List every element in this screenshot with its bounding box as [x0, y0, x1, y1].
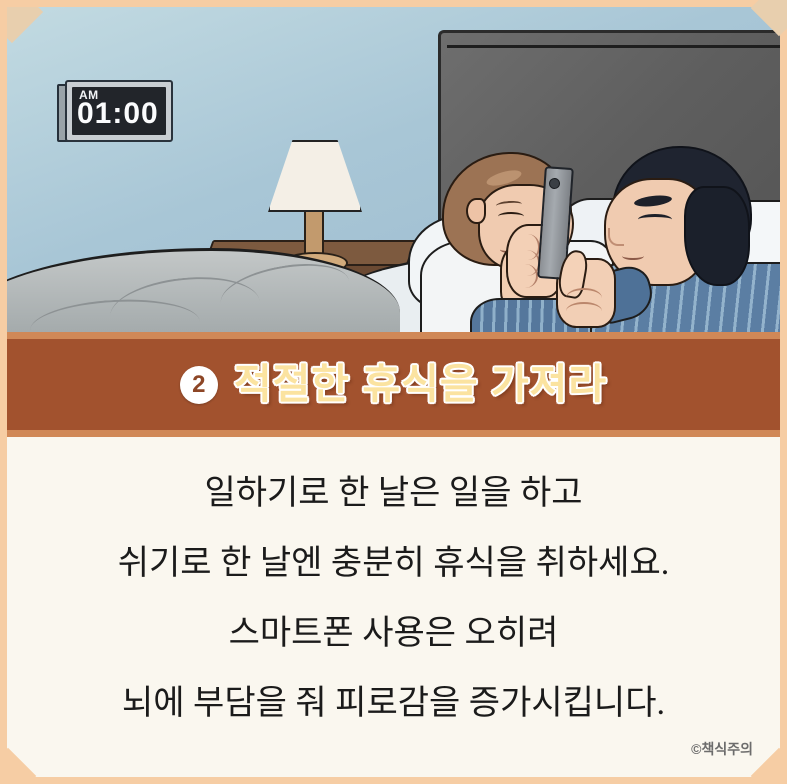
man-mouth [622, 252, 644, 260]
woman-finger [512, 264, 538, 288]
body-text-line: 스마트폰 사용은 오히려 [36, 617, 751, 651]
man-eye [638, 214, 672, 225]
clock-body: AM 01:00 [65, 80, 173, 142]
body-text-line: 일하기로 한 날은 일을 하고 [36, 477, 751, 511]
clock-face: AM 01:00 [72, 87, 166, 135]
body-text-line: 쉬기로 한 날엔 충분히 휴식을 취하세요. [36, 547, 751, 581]
frame-left-edge [0, 0, 6, 332]
step-number-badge: 2 [180, 366, 218, 404]
illustration-panel: AM 01:00 [0, 0, 787, 332]
body-text-panel: 일하기로 한 날은 일을 하고 쉬기로 한 날엔 충분히 휴식을 취하세요. 스… [0, 437, 787, 784]
banner-stripe-top [0, 332, 787, 339]
banner-content: 2 적절한 휴식을 가져라 [180, 364, 607, 405]
section-banner: 2 적절한 휴식을 가져라 [0, 332, 787, 437]
woman-ear [466, 198, 486, 224]
man-nose [608, 228, 624, 246]
watermark-credit: ©책식주의 [691, 739, 753, 759]
body-text-line: 뇌에 부담을 줘 피로감을 증가시킵니다. [36, 687, 751, 721]
banner-title: 적절한 휴식을 가져라 [234, 364, 607, 405]
man-hair-side [684, 186, 750, 286]
banner-stripe-bottom [0, 430, 787, 437]
infographic-card: AM 01:00 [0, 0, 787, 784]
digital-clock: AM 01:00 [57, 80, 175, 142]
clock-time-display: 01:00 [77, 99, 159, 129]
man-finger [566, 302, 602, 320]
frame-top-edge [0, 0, 787, 6]
woman-eye [498, 212, 524, 221]
